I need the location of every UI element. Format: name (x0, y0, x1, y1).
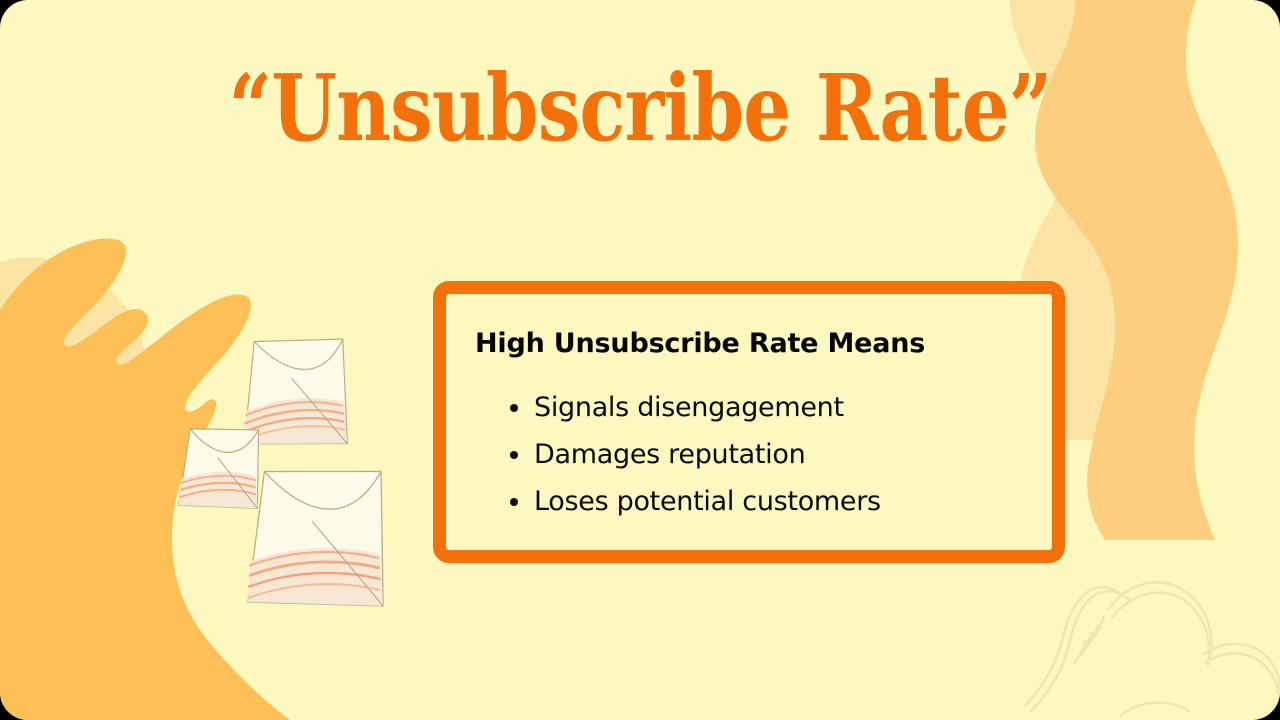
envelope-icon-1 (230, 329, 357, 457)
slide-title: “Unsubscribe Rate” (115, 62, 1165, 154)
leaf-blob-shadow-shape (0, 258, 144, 720)
leaf-blob-shape (0, 238, 290, 720)
card-heading: High Unsubscribe Rate Means (475, 328, 925, 359)
bullet-dot-icon (510, 451, 518, 459)
list-item-label: Damages reputation (534, 439, 805, 470)
content-card: High Unsubscribe Rate Means Signals dise… (433, 281, 1065, 563)
envelope-icon-2 (172, 423, 265, 515)
slide: “Unsubscribe Rate” High Unsubscribe Rate… (0, 0, 1280, 720)
envelope-icon-3 (235, 459, 395, 619)
bullet-list: Signals disengagement Damages reputation… (494, 384, 881, 525)
list-item: Signals disengagement (494, 384, 881, 431)
list-item-label: Loses potential customers (534, 486, 881, 517)
bullet-dot-icon (510, 498, 518, 506)
bullet-dot-icon (510, 404, 518, 412)
cloud-outline-shape (1025, 582, 1280, 716)
list-item: Loses potential customers (494, 478, 881, 525)
list-item-label: Signals disengagement (534, 392, 844, 423)
list-item: Damages reputation (494, 431, 881, 478)
